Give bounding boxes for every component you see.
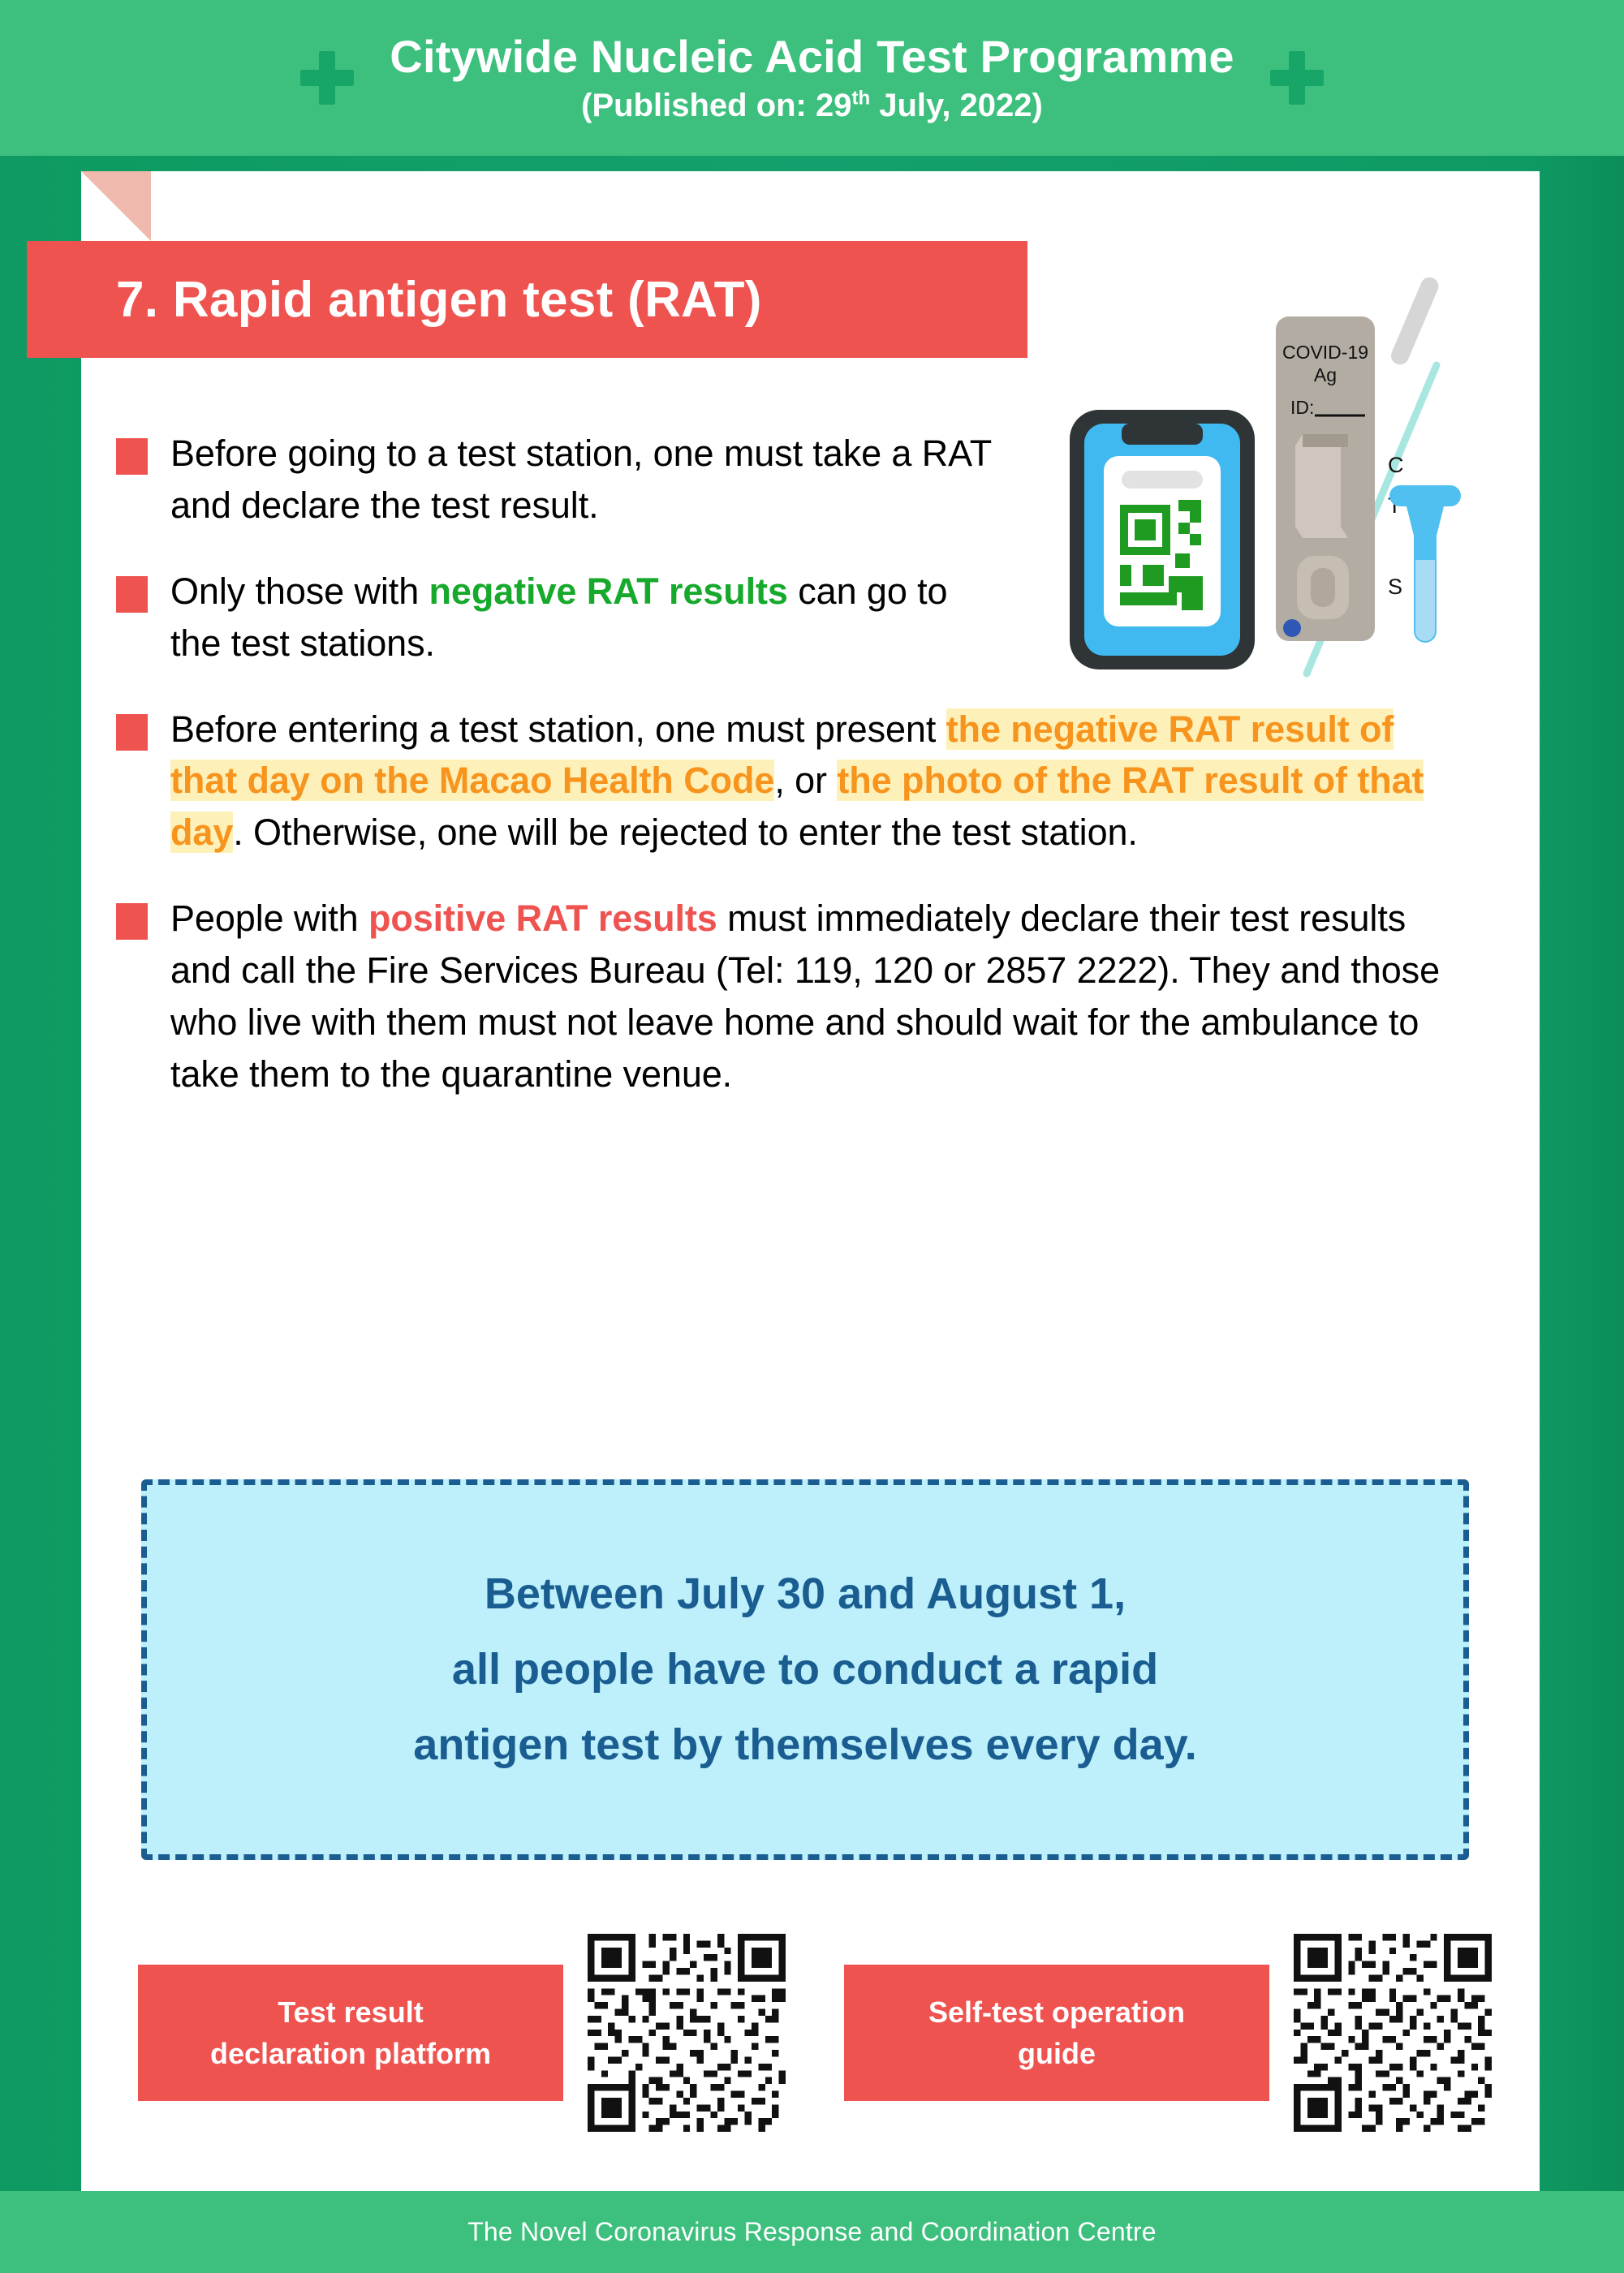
- page-footer: The Novel Coronavirus Response and Coord…: [0, 2191, 1624, 2273]
- callout-line: Between July 30 and August 1,: [485, 1556, 1126, 1632]
- bullet-segment: Only those with: [170, 570, 429, 612]
- folded-corner-decoration: [81, 171, 151, 241]
- published-prefix: (Published on: 29: [581, 88, 851, 123]
- qr-label-line2: declaration platform: [210, 2033, 491, 2074]
- qr-code-icon[interactable]: [588, 1934, 786, 2132]
- bullet-list: Before going to a test station, one must…: [116, 428, 1467, 1134]
- bullet-segment: , or: [774, 760, 837, 801]
- bullet-text: Before entering a test station, one must…: [170, 704, 1467, 859]
- bullet-segment: . Otherwise, one will be rejected to ent…: [233, 811, 1138, 853]
- qr-label-line2: guide: [1018, 2033, 1096, 2074]
- list-item: Only those with negative RAT results can…: [116, 566, 1467, 669]
- bullet-segment-positive-rat: positive RAT results: [368, 898, 717, 939]
- qr-code-icon[interactable]: [1294, 1934, 1492, 2132]
- bullet-text: Before going to a test station, one must…: [170, 428, 998, 532]
- header-text-block: Citywide Nucleic Acid Test Programme (Pu…: [390, 32, 1234, 125]
- section-title: 7. Rapid antigen test (RAT): [27, 271, 762, 329]
- bullet-marker-icon: [116, 903, 148, 940]
- svg-text:Ag: Ag: [1314, 364, 1337, 385]
- self-test-operation-guide-button[interactable]: Self-test operation guide: [844, 1965, 1269, 2101]
- list-item: Before entering a test station, one must…: [116, 704, 1467, 859]
- published-suffix: July, 2022): [870, 88, 1043, 123]
- list-item: People with positive RAT results must im…: [116, 893, 1467, 1100]
- page-title: Citywide Nucleic Acid Test Programme: [390, 32, 1234, 83]
- bullet-segment: Before entering a test station, one must…: [170, 708, 946, 750]
- qr-label-line1: Self-test operation: [928, 1991, 1185, 2033]
- page-header: Citywide Nucleic Acid Test Programme (Pu…: [0, 0, 1624, 156]
- green-cross-icon: [1270, 51, 1324, 105]
- bullet-text: People with positive RAT results must im…: [170, 893, 1467, 1100]
- test-result-declaration-button[interactable]: Test result declaration platform: [138, 1965, 563, 2101]
- list-item: Before going to a test station, one must…: [116, 428, 1467, 532]
- callout-line: antigen test by themselves every day.: [413, 1707, 1196, 1783]
- qr-group-test-result: Test result declaration platform: [138, 1934, 786, 2132]
- bullet-text: Only those with negative RAT results can…: [170, 566, 998, 669]
- bullet-marker-icon: [116, 576, 148, 613]
- notice-callout-box: Between July 30 and August 1, all people…: [141, 1479, 1469, 1860]
- bullet-marker-icon: [116, 714, 148, 751]
- qr-group-self-test: Self-test operation guide: [844, 1934, 1492, 2132]
- qr-label-line1: Test result: [278, 1991, 423, 2033]
- section-banner: 7. Rapid antigen test (RAT): [27, 241, 1027, 358]
- svg-text:ID:: ID:: [1290, 397, 1314, 418]
- bullet-segment: Before going to a test station, one must…: [170, 433, 991, 526]
- qr-button-row: Test result declaration platform: [138, 1931, 1501, 2134]
- bullet-segment: People with: [170, 898, 368, 939]
- footer-text: The Novel Coronavirus Response and Coord…: [467, 2217, 1157, 2247]
- poster-root: Citywide Nucleic Acid Test Programme (Pu…: [0, 0, 1624, 2273]
- bullet-marker-icon: [116, 438, 148, 475]
- svg-text:COVID-19: COVID-19: [1282, 342, 1368, 363]
- header-inner: Citywide Nucleic Acid Test Programme (Pu…: [300, 32, 1323, 125]
- callout-line: all people have to conduct a rapid: [452, 1632, 1158, 1707]
- bullet-segment-negative-rat: negative RAT results: [429, 570, 788, 612]
- published-ordinal-suffix: th: [851, 88, 870, 110]
- green-cross-icon: [300, 51, 354, 105]
- published-date: (Published on: 29th July, 2022): [390, 87, 1234, 124]
